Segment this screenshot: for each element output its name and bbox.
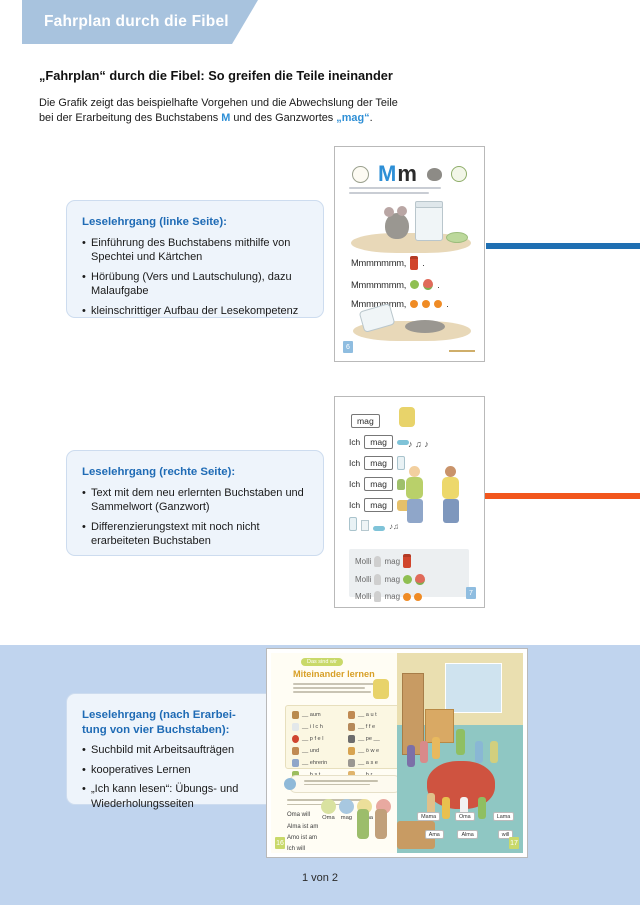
letter-lowercase: m bbox=[397, 161, 418, 186]
mouse-icon bbox=[427, 168, 442, 181]
page-indicator: 1 von 2 bbox=[0, 872, 640, 884]
page-number-badge: 17 bbox=[509, 837, 519, 849]
picture-word-tag: Alma bbox=[457, 830, 477, 839]
lion-icon bbox=[348, 747, 355, 755]
teacher-icon bbox=[292, 759, 299, 767]
moon-icon bbox=[352, 166, 369, 183]
woodpecker-mascot-icon bbox=[399, 407, 415, 427]
dog-icon bbox=[348, 711, 355, 719]
name-text: Molli bbox=[355, 592, 371, 601]
child-figure bbox=[357, 809, 369, 839]
period: . bbox=[437, 280, 440, 290]
apple-icon bbox=[410, 280, 419, 289]
verse-instruction-lines bbox=[349, 187, 469, 197]
letter-pair: Mm bbox=[378, 161, 418, 187]
lamp-icon bbox=[348, 735, 355, 743]
thumbnail-letter-page-content: Mm Mmmmmmm, . Mmmmmmm, bbox=[339, 151, 480, 357]
hint-bubble bbox=[289, 775, 401, 793]
verb-text: mag bbox=[384, 592, 400, 601]
name-text: Molli bbox=[355, 575, 371, 584]
differentiation-row: Molli mag bbox=[355, 591, 463, 602]
horse-icon bbox=[292, 747, 299, 755]
text-line bbox=[349, 192, 429, 194]
owl-mascot-icon bbox=[284, 778, 296, 790]
orange-arrow-shaft bbox=[480, 493, 640, 499]
word-text: __ und bbox=[302, 748, 319, 754]
bottle-icon bbox=[349, 517, 357, 531]
credit-line bbox=[449, 350, 475, 352]
thumbnail-letter-page[interactable]: Mm Mmmmmmm, . Mmmmmmm, bbox=[334, 146, 485, 362]
child-figure bbox=[407, 745, 415, 767]
child-figure bbox=[478, 797, 486, 819]
chant-text: Mmmmmmm, bbox=[351, 280, 406, 290]
spread-tag-badge: Das sind wir bbox=[301, 658, 343, 666]
word-text: __ a u t bbox=[358, 712, 377, 718]
illustration-two-children bbox=[357, 805, 387, 839]
word-item: __ pe __ bbox=[348, 735, 398, 743]
monkey-icon bbox=[348, 723, 355, 731]
infobox-right-page-heading: Leselehrgang (rechte Seite): bbox=[82, 465, 307, 480]
intro-letter-m: M bbox=[221, 112, 230, 124]
sentence-row: Ich mag bbox=[349, 435, 410, 449]
infobox-right-page-list: Text mit dem neu erlernten Buchstaben un… bbox=[82, 486, 307, 550]
sentence-starter: Ich bbox=[349, 500, 360, 510]
word-chip-group: mag bbox=[339, 799, 354, 821]
orange-icon bbox=[403, 593, 411, 601]
text-line bbox=[304, 784, 370, 786]
text-line bbox=[293, 691, 371, 693]
word-text: __ ehrerin bbox=[302, 760, 327, 766]
intro-line-1: Die Grafik zeigt das beispielhafte Vorge… bbox=[39, 97, 398, 109]
infobox-left-page-heading: Leselehrgang (linke Seite): bbox=[82, 215, 307, 230]
word-item: __ a u t bbox=[348, 711, 398, 719]
orange-icon bbox=[414, 593, 422, 601]
chant-row: Mmmmmmm, . bbox=[351, 256, 480, 270]
child-figure bbox=[375, 809, 387, 839]
headword-row: mag bbox=[351, 411, 380, 429]
sentence-lines: Ich mag Ich mag Ich mag Ich mag bbox=[349, 435, 410, 519]
word-box: mag bbox=[364, 435, 393, 449]
illustration-mouse-sleeping bbox=[353, 301, 471, 341]
text-line bbox=[293, 687, 365, 689]
sentence-starter: Ich bbox=[349, 458, 360, 468]
jar-lid-shape bbox=[415, 201, 443, 208]
chip-label: mag bbox=[339, 815, 354, 821]
differentiation-row: Molli mag bbox=[355, 574, 463, 585]
melon-slice-icon bbox=[423, 279, 433, 290]
intro-line-2-part-b: und des Ganzwortes bbox=[230, 112, 336, 124]
sentence-row: Ich mag bbox=[349, 477, 410, 491]
glass-icon bbox=[361, 520, 369, 531]
blue-connector-line bbox=[486, 243, 640, 249]
object-icon-row: ♪♫ bbox=[349, 517, 399, 531]
sentence-row: Ich will bbox=[287, 844, 399, 853]
text-line bbox=[293, 683, 377, 685]
heading-line-1: Leselehrgang (nach Erarbei- bbox=[82, 709, 236, 721]
period: . bbox=[422, 258, 425, 268]
jam-jar-icon bbox=[410, 256, 418, 270]
list-item: Hörübung (Vers und Lautschulung), dazu M… bbox=[82, 270, 307, 299]
chip-label: Oma bbox=[321, 815, 336, 821]
section-banner-label: Fahrplan durch die Fibel bbox=[22, 13, 229, 31]
sentence-starter: Ich bbox=[349, 479, 360, 489]
word-item: __ p f e l bbox=[292, 735, 342, 743]
picture-word-tag: Ama bbox=[425, 830, 444, 839]
mouse-ear-icon bbox=[384, 207, 394, 217]
spread-left-page: Das sind wir Miteinander lernen __ aum _… bbox=[271, 653, 397, 853]
word-box: mag bbox=[364, 477, 393, 491]
chant-row: Mmmmmmm, . bbox=[351, 279, 480, 290]
thumbnail-double-spread-content: Das sind wir Miteinander lernen __ aum _… bbox=[271, 653, 523, 853]
toothbrush-icon bbox=[373, 526, 385, 531]
verb-text: mag bbox=[384, 557, 400, 566]
child-figure bbox=[420, 741, 428, 763]
word-text: __ a s e bbox=[358, 760, 378, 766]
intro-word-mag: „mag“ bbox=[336, 112, 369, 124]
word-item: __ und bbox=[292, 747, 342, 755]
rabbit-icon bbox=[374, 574, 381, 585]
word-item: __ a s e bbox=[348, 759, 398, 767]
intro-line-2-part-a: bei der Erarbeitung des Buchstabens bbox=[39, 112, 221, 124]
jam-jar-icon bbox=[403, 554, 411, 568]
tree-icon bbox=[292, 711, 299, 719]
window-shape bbox=[445, 663, 502, 713]
heading-line-2: tung von vier Buchstaben): bbox=[82, 724, 229, 736]
spread-instructions bbox=[293, 683, 381, 695]
sentence-row: Ich mag bbox=[349, 498, 410, 512]
music-notes-icon: ♪♫ bbox=[389, 522, 399, 531]
legs-shape bbox=[443, 499, 459, 523]
melon-slice-icon bbox=[415, 574, 425, 585]
word-text: __ i l c h bbox=[302, 724, 323, 730]
mouse-lying-figure bbox=[405, 320, 445, 333]
word-text: __ ö w e bbox=[358, 748, 379, 754]
intro-line-2-part-c: . bbox=[370, 112, 373, 124]
picture-word-tag: Lama bbox=[493, 812, 515, 821]
child-figure bbox=[432, 737, 440, 759]
child-figure bbox=[490, 741, 498, 763]
name-text: Molli bbox=[355, 557, 371, 566]
word-text: __ p f e l bbox=[302, 736, 323, 742]
picture-word-tag: Oma bbox=[455, 812, 475, 821]
child-figure bbox=[442, 797, 450, 819]
body-shape bbox=[406, 477, 423, 499]
thumbnail-word-page[interactable]: mag Ich mag Ich mag Ich mag Ich mag bbox=[334, 396, 485, 608]
list-item: Differenzierungstext mit noch nicht erar… bbox=[82, 520, 307, 549]
mouse-ear-icon bbox=[397, 206, 407, 216]
picture-word-tag: Mama bbox=[417, 812, 440, 821]
word-exercise-panel: __ aum __ i l c h __ p f e l __ und bbox=[285, 705, 403, 769]
letter-uppercase: M bbox=[378, 161, 397, 186]
text-line bbox=[304, 780, 378, 782]
word-item: __ f f e bbox=[348, 723, 398, 731]
apple-icon bbox=[292, 735, 299, 743]
chip-circle bbox=[321, 799, 336, 814]
rabbit-icon bbox=[374, 556, 381, 567]
head-shape bbox=[409, 466, 420, 477]
chant-text: Mmmmmmm, bbox=[351, 258, 406, 268]
page-title: „Fahrplan“ durch die Fibel: So greifen d… bbox=[39, 68, 559, 83]
word-box: mag bbox=[364, 456, 393, 470]
page-number-badge: 6 bbox=[343, 341, 353, 353]
list-item: Text mit dem neu erlernten Buchstaben un… bbox=[82, 486, 307, 515]
head-shape bbox=[445, 466, 456, 477]
infobox-right-page: Leselehrgang (rechte Seite): Text mit de… bbox=[66, 450, 324, 556]
word-item: __ aum bbox=[292, 711, 342, 719]
list-item: Einführung des Buchstabens mithilfe von … bbox=[82, 236, 307, 265]
letter-header-row: Mm bbox=[339, 161, 480, 187]
differentiation-row: Molli mag bbox=[355, 554, 463, 568]
text-line bbox=[349, 187, 441, 189]
dancer-figure-1 bbox=[406, 466, 423, 523]
sentence-starter: Ich bbox=[349, 437, 360, 447]
headword-box: mag bbox=[351, 414, 380, 428]
illustration-two-dancing-children: ♪ ♫ ♪ bbox=[402, 435, 474, 523]
word-item: __ i l c h bbox=[292, 723, 342, 731]
spread-title: Miteinander lernen bbox=[293, 669, 375, 679]
infobox-left-page: Leselehrgang (linke Seite): Einführung d… bbox=[66, 200, 324, 318]
jar-shape bbox=[415, 205, 443, 241]
word-column-left: __ aum __ i l c h __ p f e l __ und bbox=[292, 711, 342, 783]
apple-icon bbox=[403, 575, 412, 584]
rabbit-icon bbox=[348, 759, 355, 767]
thumbnail-word-page-content: mag Ich mag Ich mag Ich mag Ich mag bbox=[339, 401, 480, 603]
page-number-badge: 7 bbox=[466, 587, 476, 599]
body-shape bbox=[442, 477, 459, 499]
woodpecker-mascot-icon bbox=[373, 679, 389, 699]
section-banner: Fahrplan durch die Fibel bbox=[22, 0, 258, 44]
list-item: kleinschrittiger Aufbau der Lesekompeten… bbox=[82, 304, 307, 319]
word-text: __ aum bbox=[302, 712, 321, 718]
spread-right-page: Mama Oma Lama Ama Alma will 17 bbox=[397, 653, 523, 853]
illustration-mouse-with-jar bbox=[351, 201, 471, 253]
verb-text: mag bbox=[384, 575, 400, 584]
music-notes-icon: ♪ ♫ ♪ bbox=[408, 439, 429, 449]
dancer-figure-2 bbox=[442, 466, 459, 523]
word-box: mag bbox=[364, 498, 393, 512]
page-number-badge: 16 bbox=[275, 837, 285, 849]
word-column-right: __ a u t __ f f e __ pe __ __ ö w e bbox=[348, 711, 398, 783]
teacher-figure bbox=[456, 729, 465, 755]
differentiation-text-block: Molli mag Molli mag Molli mag bbox=[349, 549, 469, 597]
child-figure bbox=[475, 741, 483, 763]
word-chip-group: Oma bbox=[321, 799, 336, 821]
melon-icon bbox=[451, 166, 467, 182]
infobox-left-page-list: Einführung des Buchstabens mithilfe von … bbox=[82, 236, 307, 319]
legs-shape bbox=[407, 499, 423, 523]
word-text: __ f f e bbox=[358, 724, 375, 730]
thumbnail-double-spread[interactable]: Das sind wir Miteinander lernen __ aum _… bbox=[266, 648, 528, 858]
word-item: __ ehrerin bbox=[292, 759, 342, 767]
plate-shape bbox=[446, 232, 468, 243]
chip-circle bbox=[339, 799, 354, 814]
word-item: __ ö w e bbox=[348, 747, 398, 755]
milk-icon bbox=[292, 723, 299, 731]
sentence-row: Ich mag bbox=[349, 456, 410, 470]
word-text: __ pe __ bbox=[358, 736, 380, 742]
page-intro: Die Grafik zeigt das beispielhafte Vorge… bbox=[39, 96, 469, 127]
rabbit-icon bbox=[374, 591, 381, 602]
